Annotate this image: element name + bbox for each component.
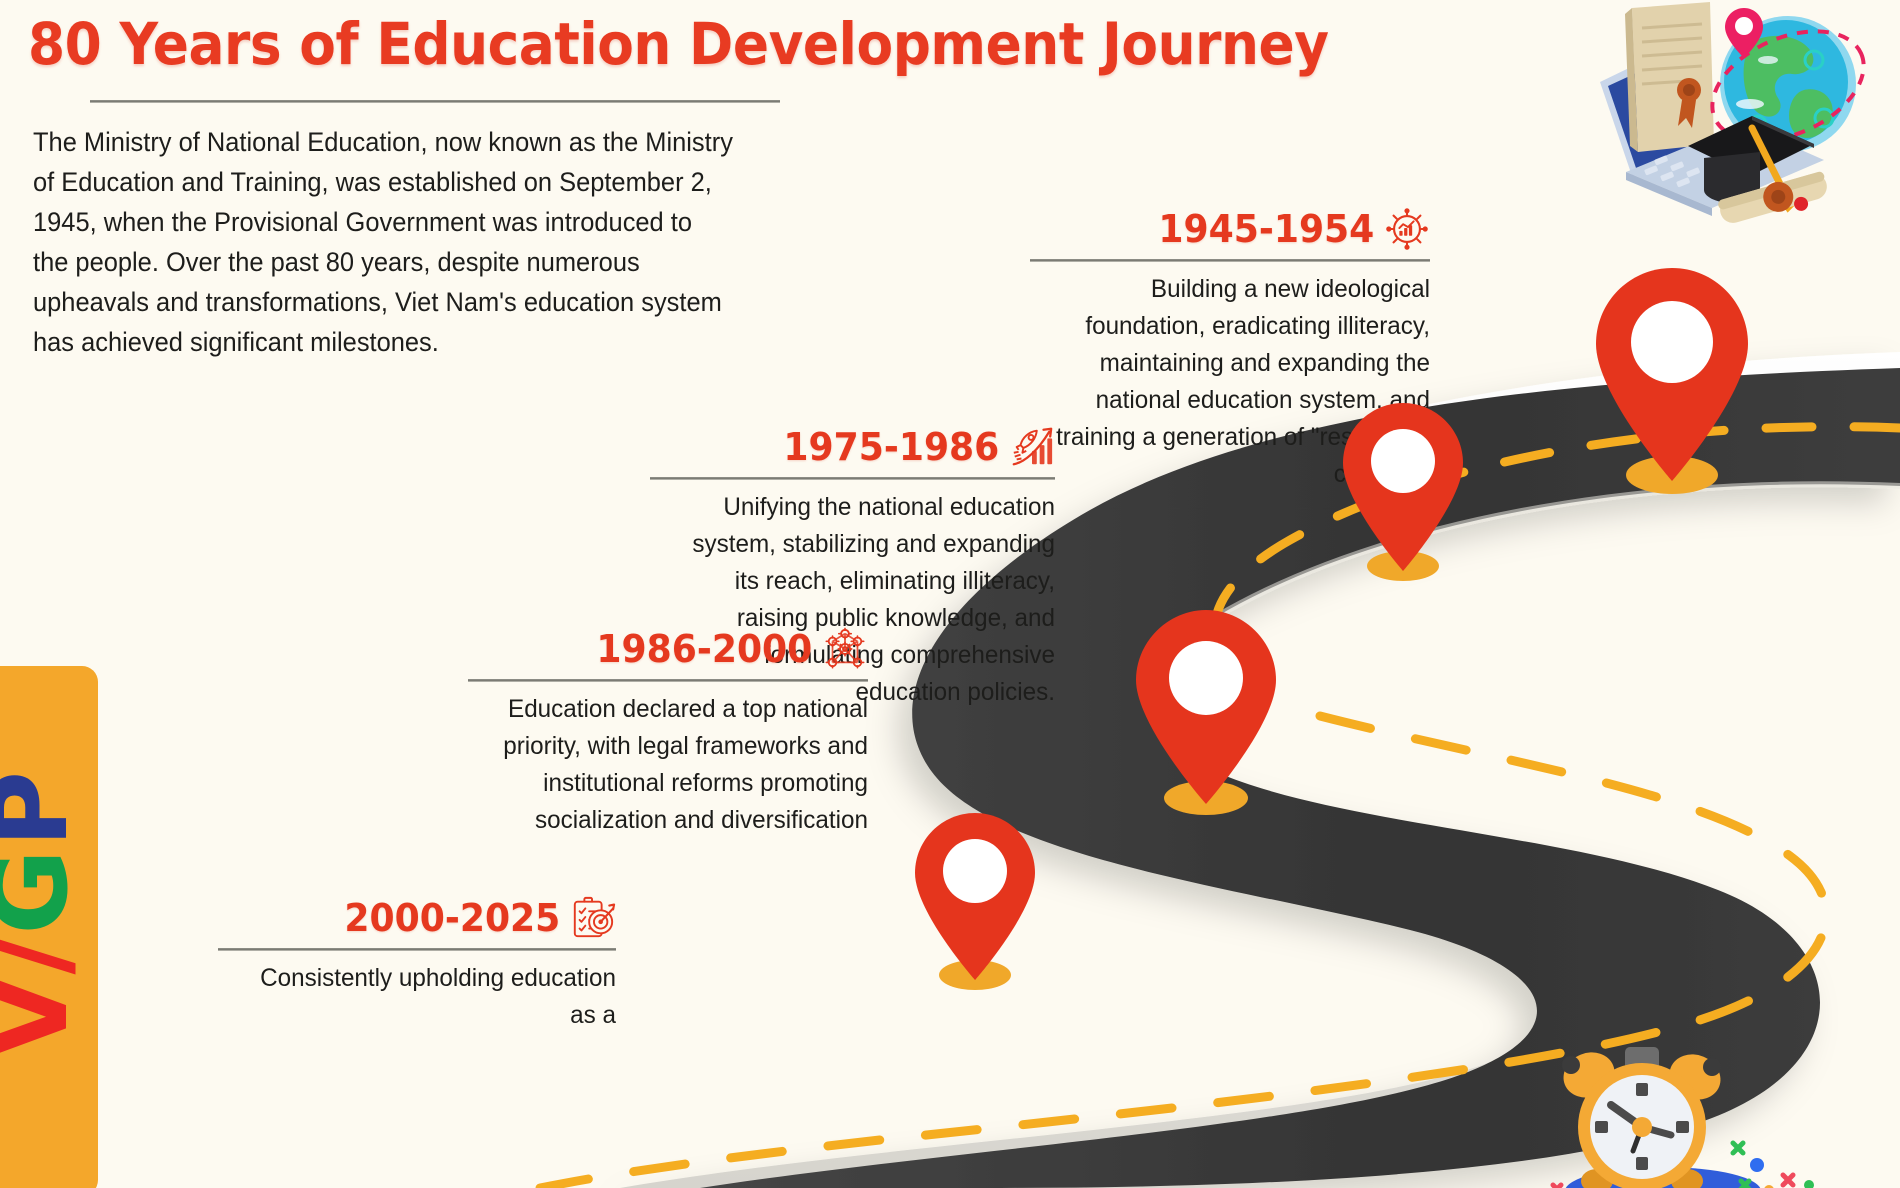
vgp-logo[interactable]: V / G P: [0, 666, 98, 1188]
milestone-header: 1945-1954: [1030, 206, 1430, 252]
milestone-description: Consistently upholding education as a: [230, 960, 616, 1034]
milestone-year-label: 1986-2000: [596, 627, 812, 671]
rocket-growth-icon: [1009, 424, 1055, 470]
map-pin-icon: [1124, 605, 1289, 818]
milestone-header: 1986-2000: [468, 626, 868, 672]
milestone-divider: [218, 948, 616, 951]
milestone-divider: [1030, 259, 1430, 262]
alarm-clock-illustration: [1545, 1035, 1875, 1188]
gear-network-icon: [822, 626, 868, 672]
title-divider: [90, 100, 780, 103]
education-laptop-globe-graduation-illustration: [1592, 0, 1892, 229]
milestone-divider: [468, 679, 868, 682]
milestone-2000-2025: 2000-2025: [218, 895, 616, 1034]
milestone-year-label: 1975-1986: [783, 425, 999, 469]
vgp-logo-letters: V / G P: [0, 684, 90, 1144]
milestone-header: 2000-2025: [218, 895, 616, 941]
milestone-year-label: 2000-2025: [344, 896, 560, 940]
milestone-divider: [650, 477, 1055, 480]
map-pin-icon: [905, 808, 1045, 993]
growth-chart-circle-icon: [1384, 206, 1430, 252]
intro-paragraph: The Ministry of National Education, now …: [33, 122, 734, 362]
map-pin-icon: [1333, 398, 1473, 584]
page-title: 80 Years of Education Development Journe…: [28, 10, 1329, 78]
map-pin-icon: [1582, 262, 1762, 497]
logo-letter-v: V: [0, 977, 82, 1058]
milestone-1986-2000: 1986-2000: [468, 626, 868, 839]
logo-letter-p: P: [0, 771, 82, 847]
milestone-year-label: 1945-1954: [1158, 207, 1374, 251]
infographic-canvas: 80 Years of Education Development Journe…: [0, 0, 1900, 1188]
milestone-description: Education declared a top national priori…: [480, 691, 868, 839]
logo-letter-g: G: [0, 849, 82, 934]
clipboard-target-icon: [570, 895, 616, 941]
milestone-header: 1975-1986: [650, 424, 1055, 470]
logo-letter-slash: /: [0, 937, 82, 975]
